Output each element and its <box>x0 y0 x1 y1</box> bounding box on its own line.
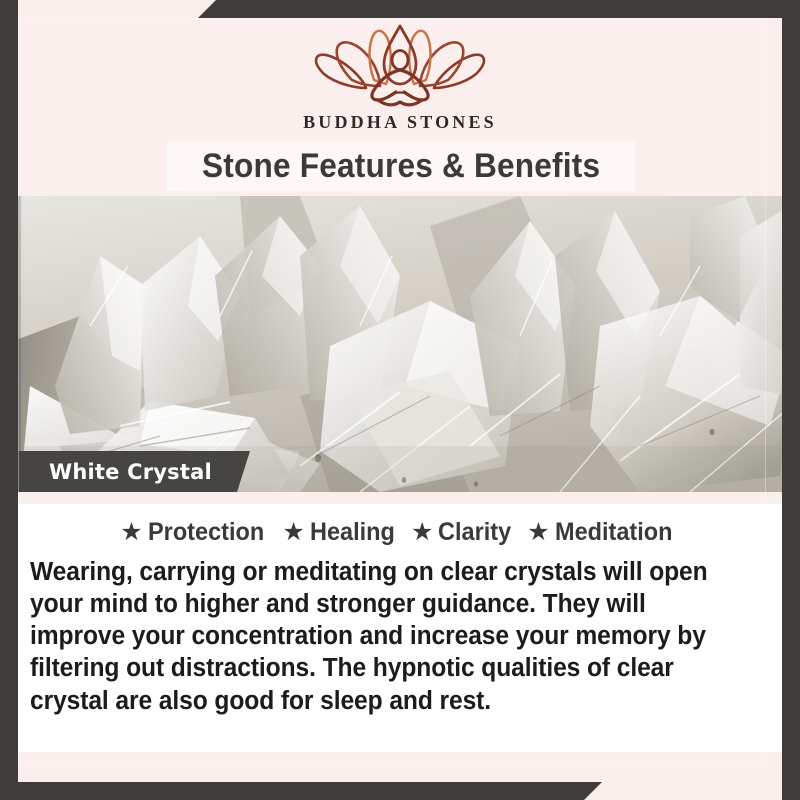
star-icon: ★ <box>282 520 304 545</box>
brand-logo: BUDDHA STONES <box>0 22 800 133</box>
frame-bottom-bar <box>0 782 800 800</box>
benefit-item: ★ Protection <box>120 518 271 547</box>
benefit-label: Clarity <box>438 518 511 547</box>
description-text: Wearing, carrying or meditating on clear… <box>30 556 744 717</box>
brand-name: BUDDHA STONES <box>0 112 800 133</box>
benefit-label: Protection <box>148 518 264 547</box>
benefit-label: Healing <box>310 518 395 547</box>
content-section: ★ Protection ★ Healing ★ Clarity ★ Medit… <box>0 504 800 752</box>
frame-left-bar <box>0 0 18 800</box>
benefit-item: ★ Healing <box>282 518 400 547</box>
lotus-meditation-figure-icon <box>312 22 488 108</box>
page-title: Stone Features & Benefits <box>202 147 600 186</box>
star-icon: ★ <box>120 520 142 545</box>
star-icon: ★ <box>527 520 549 545</box>
star-icon: ★ <box>411 520 433 545</box>
title-plate: Stone Features & Benefits <box>167 141 635 191</box>
stone-photo <box>0 196 800 492</box>
benefit-item: ★ Clarity <box>411 518 516 547</box>
benefits-list: ★ Protection ★ Healing ★ Clarity ★ Medit… <box>0 518 800 547</box>
frame-right-bar <box>782 0 800 800</box>
benefit-label: Meditation <box>555 518 673 547</box>
poster-card: BUDDHA STONES Stone Features & Benefits <box>0 0 800 800</box>
benefit-item: ★ Meditation <box>527 518 679 547</box>
stone-name-label: White Crystal <box>49 460 212 484</box>
divider-strip <box>0 492 800 504</box>
crystal-cluster-image <box>0 196 800 492</box>
stone-name-banner: White Crystal <box>18 451 250 492</box>
